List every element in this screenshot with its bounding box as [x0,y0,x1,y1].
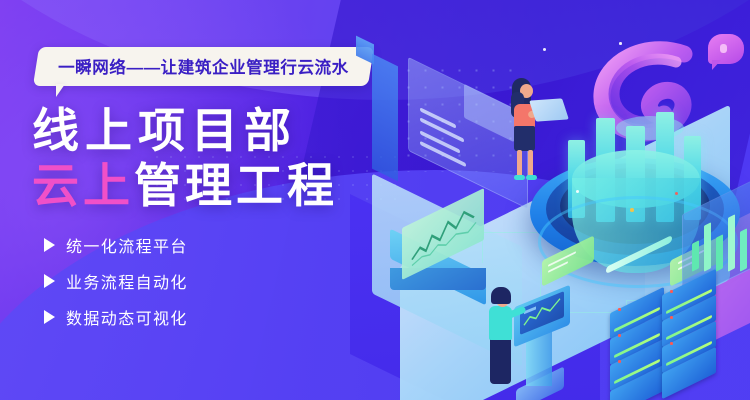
server-indicator [618,360,621,363]
headline-rest-text: 管理工程 [134,159,338,212]
chart-bar [692,240,699,271]
headline-line-1: 线上项目部 [32,103,338,158]
marketing-banner: 一瞬网络——让建筑企业管理行云流水 线上项目部 云上管理工程 统一化流程平台 业… [0,0,750,400]
woman-shoe [514,175,525,180]
woman-skirt [514,126,535,151]
list-item: 数据动态可视化 [44,305,188,329]
tagline-text: 一瞬网络——让建筑企业管理行云流水 [58,54,349,78]
list-item-label: 统一化流程平台 [66,233,188,257]
list-item: 统一化流程平台 [44,233,188,257]
pillar-indicator [630,208,634,212]
headline-accent-text: 云上 [32,159,134,212]
server-indicator [670,342,673,345]
headline-line-2: 云上管理工程 [32,158,338,213]
server-indicator [670,290,673,293]
man-hair [491,287,511,304]
chart-bar [740,228,747,271]
chart-bar [716,234,723,271]
pillar-indicator [675,192,678,195]
page-title: 线上项目部 云上管理工程 [32,103,338,213]
pillar-indicator [576,190,579,193]
chart-bar [728,214,735,271]
list-item-label: 数据动态可视化 [66,305,188,329]
server-indicator [618,308,621,311]
woman-leg [528,150,533,177]
tagline-bubble: 一瞬网络——让建筑企业管理行云流水 [33,47,374,86]
woman-tablet [529,98,569,121]
triangle-right-icon [44,238,55,252]
woman-shoe [526,175,537,180]
list-item-label: 业务流程自动化 [66,269,188,293]
chat-bubble-tail [712,60,721,70]
triangle-right-icon [44,274,55,288]
woman-leg [517,150,522,177]
server-indicator [618,334,621,337]
feature-list: 统一化流程平台 业务流程自动化 数据动态可视化 [44,233,188,341]
city-tower [372,54,398,182]
triangle-right-icon [44,310,55,324]
list-item: 业务流程自动化 [44,269,188,293]
illustration-scene [390,0,750,400]
tagline-bubble-tail [56,84,74,97]
chart-bar [704,222,711,271]
man-legs [490,338,511,384]
sparkle-dot [720,44,727,53]
server-indicator [670,316,673,319]
